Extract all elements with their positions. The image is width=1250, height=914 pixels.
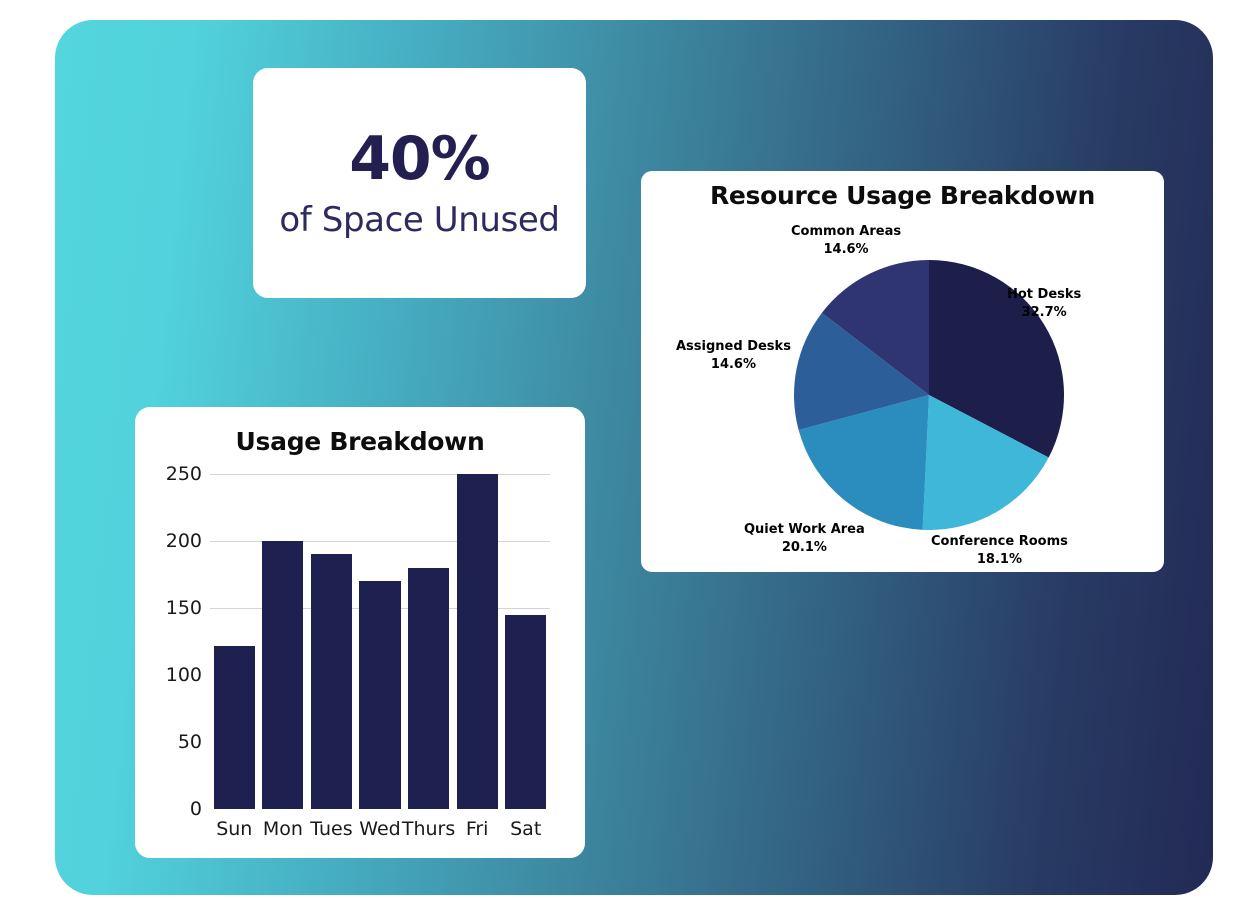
- bar: [262, 541, 303, 809]
- x-axis-tick-label: Thurs: [402, 818, 455, 840]
- bar-chart-bars: [210, 474, 550, 809]
- pie-label-percent: 14.6%: [791, 241, 901, 259]
- bar: [408, 568, 449, 809]
- pie-label-name: Hot Desks: [1007, 286, 1081, 304]
- pie-label-percent: 18.1%: [931, 551, 1068, 569]
- pie-label-name: Quiet Work Area: [744, 521, 865, 539]
- bar: [457, 474, 498, 809]
- bar-chart-title: Usage Breakdown: [135, 427, 585, 456]
- pie-label-quiet-work-area: Quiet Work Area 20.1%: [744, 521, 865, 556]
- pie-label-percent: 32.7%: [1007, 304, 1081, 322]
- y-axis-tick-label: 200: [142, 530, 202, 552]
- pie-label-name: Common Areas: [791, 223, 901, 241]
- usage-breakdown-bar-card: Usage Breakdown 050100150200250 SunMonTu…: [135, 407, 585, 858]
- pie-label-name: Conference Rooms: [931, 533, 1068, 551]
- bar-chart-plot-area: 050100150200250 SunMonTuesWedThursFriSat: [210, 474, 550, 815]
- pie-label-conference-rooms: Conference Rooms 18.1%: [931, 533, 1068, 568]
- y-axis-tick-label: 100: [142, 664, 202, 686]
- x-axis-tick-label: Sat: [510, 818, 541, 840]
- resource-usage-pie-card: Resource Usage Breakdown Hot Desks 32.7%…: [641, 171, 1164, 572]
- x-axis-tick-label: Tues: [310, 818, 352, 840]
- stat-label: of Space Unused: [279, 203, 559, 237]
- pie-label-name: Assigned Desks: [676, 338, 791, 356]
- pie-label-assigned-desks: Assigned Desks 14.6%: [676, 338, 791, 373]
- y-axis-tick-label: 50: [142, 731, 202, 753]
- x-axis-tick-label: Wed: [359, 818, 400, 840]
- pie-label-common-areas: Common Areas 14.6%: [791, 223, 901, 258]
- pie-label-percent: 14.6%: [676, 356, 791, 374]
- stat-value: 40%: [349, 129, 490, 189]
- pie-label-hot-desks: Hot Desks 32.7%: [1007, 286, 1081, 321]
- stat-card: 40% of Space Unused: [253, 68, 586, 298]
- y-axis-tick-label: 150: [142, 597, 202, 619]
- bar: [311, 554, 352, 809]
- bar: [505, 615, 546, 809]
- y-axis-tick-label: 0: [142, 798, 202, 820]
- bar: [359, 581, 400, 809]
- x-axis-tick-label: Fri: [466, 818, 489, 840]
- bar: [214, 646, 255, 809]
- x-axis-tick-label: Sun: [216, 818, 252, 840]
- y-axis-tick-label: 250: [142, 463, 202, 485]
- x-axis-tick-label: Mon: [263, 818, 303, 840]
- pie-label-percent: 20.1%: [744, 539, 865, 557]
